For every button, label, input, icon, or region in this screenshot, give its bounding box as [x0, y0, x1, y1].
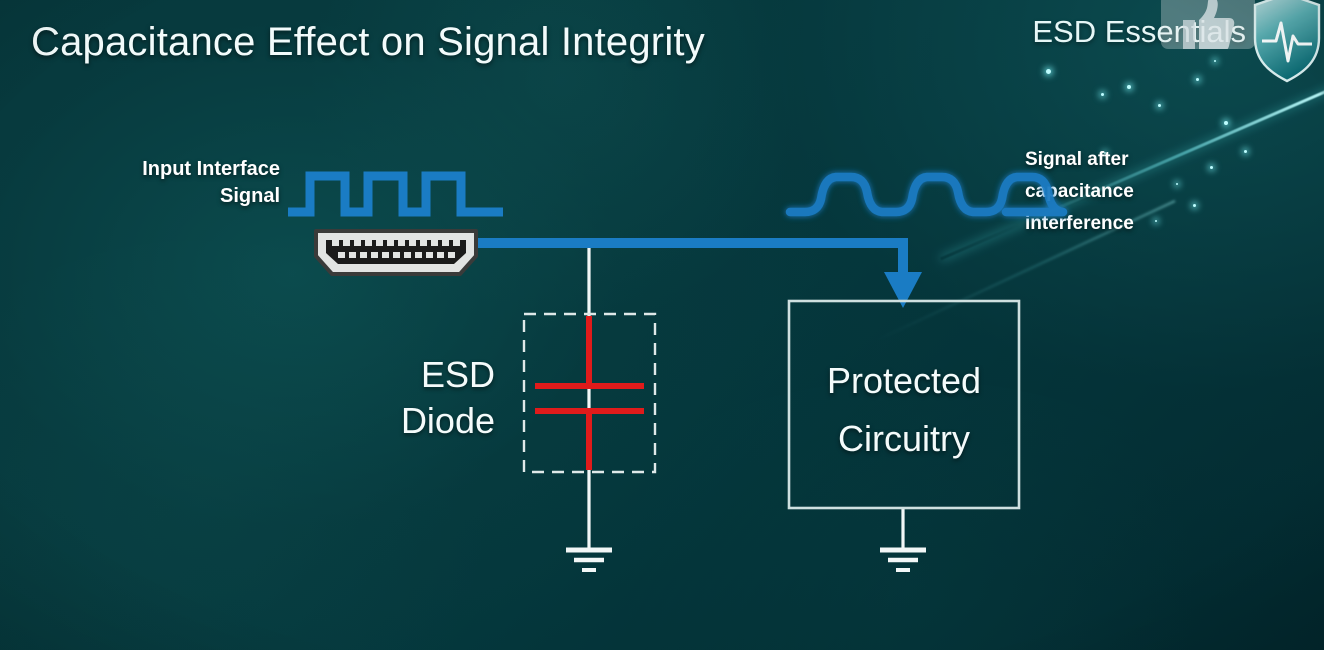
protected-circuitry-label-line1: Protected — [790, 352, 1018, 410]
esd-diode-label-line1: ESD — [380, 352, 495, 398]
hdmi-connector-icon — [310, 228, 482, 278]
esd-diode-label: ESD Diode — [380, 352, 495, 444]
circuit-diagram — [0, 0, 1324, 650]
degraded-waveform-icon — [790, 177, 1063, 212]
slide-canvas: Capacitance Effect on Signal Integrity E… — [0, 0, 1324, 650]
ground-symbol-icon — [566, 550, 612, 570]
input-waveform-icon — [288, 176, 503, 212]
signal-path-arrow-icon — [470, 243, 922, 308]
esd-diode-label-line2: Diode — [380, 398, 495, 444]
protected-circuitry-label: Protected Circuitry — [790, 352, 1018, 468]
ground-symbol-icon — [880, 550, 926, 570]
protected-circuitry-label-line2: Circuitry — [790, 410, 1018, 468]
